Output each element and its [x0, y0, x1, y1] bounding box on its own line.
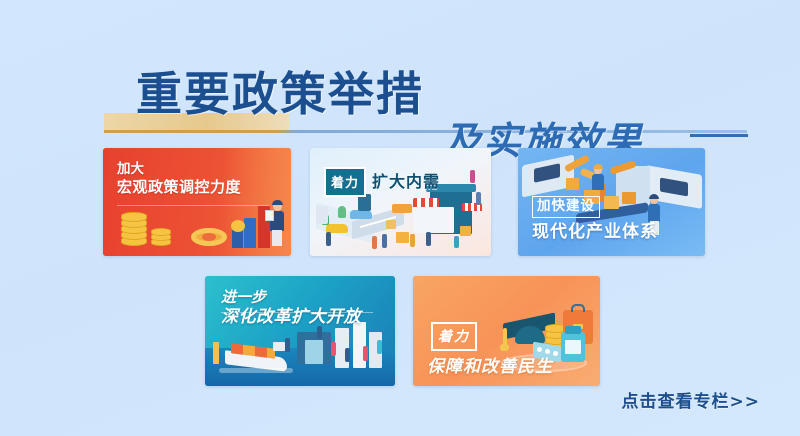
crate-icon-4 — [566, 178, 579, 190]
coin-on-chart-icon — [231, 220, 245, 232]
pedestrian-7 — [476, 192, 481, 205]
car-blue-icon — [350, 210, 372, 219]
policy-card-macro-control[interactable]: 加大 宏观政策调控力度 — [103, 148, 291, 256]
pedestrian-4 — [363, 346, 368, 361]
policy-card-reform-opening[interactable]: 进一步 深化改革扩大开放 — [205, 276, 395, 386]
person-legs — [272, 230, 282, 246]
coin-stack-small-icon — [151, 228, 171, 248]
torus-ring-hole — [202, 233, 216, 241]
pedestrian-5 — [377, 340, 382, 354]
medicine-bottle-cap — [565, 326, 581, 334]
pedestrian-3 — [345, 348, 350, 362]
card-label: 加快建设 现代化产业体系 — [532, 196, 658, 244]
person-hair — [272, 200, 283, 205]
policy-card-modern-industry[interactable]: 加快建设 现代化产业体系 — [518, 148, 705, 256]
pill-dot-3 — [553, 351, 558, 356]
title-divider-rule — [104, 130, 747, 133]
chart-bars-decoration — [213, 342, 219, 364]
parcel-icon-3 — [460, 226, 471, 236]
title-tail-line — [690, 134, 748, 137]
pedestrian-1 — [326, 232, 331, 246]
card-label: 扩大内需 — [372, 168, 440, 192]
view-column-link[interactable]: 点击查看专栏>> — [622, 387, 761, 412]
ship-wake — [219, 368, 293, 373]
kiosk-icon — [316, 206, 328, 224]
card-label-line1: 进一步 — [221, 288, 361, 307]
coin-stack-large-icon — [121, 216, 147, 246]
page-title: 重要政策举措 — [136, 68, 424, 121]
chart-bar-medium — [244, 218, 256, 248]
port-gate-inner — [305, 340, 323, 364]
pedestrian-3 — [382, 234, 387, 248]
pedestrian-6 — [470, 170, 475, 183]
ship-bridge — [273, 342, 285, 351]
card-badge: 着力 — [324, 167, 366, 197]
pedestrian-2 — [372, 236, 377, 249]
worker-1-body — [592, 174, 604, 190]
person-clipboard-icon — [265, 210, 274, 221]
tree-icon-1 — [338, 206, 346, 218]
pedestrian-1 — [285, 338, 290, 352]
worker-1-helmet — [593, 164, 603, 169]
graduation-cap-tassel-knot — [500, 344, 509, 351]
pedestrian-4 — [410, 234, 415, 247]
card-label: 进一步 深化改革扩大开放 — [221, 288, 361, 329]
policy-card-livelihood[interactable]: 着力 保障和改善民生 — [413, 276, 600, 386]
store-awning — [413, 198, 439, 207]
parcel-icon-1 — [396, 232, 409, 243]
pedestrian-5 — [426, 232, 431, 246]
pedestrian-8 — [454, 236, 459, 248]
medicine-bottle-label — [565, 340, 581, 354]
card-label-line1: 加大 — [117, 161, 241, 178]
card-label: 保障和改善民生 — [427, 352, 553, 377]
card-badge: 着力 — [431, 322, 477, 351]
truck-icon — [392, 204, 412, 213]
card-text-underline — [117, 205, 269, 206]
pedestrian-2 — [331, 342, 336, 356]
card-label-line1: 加快建设 — [532, 196, 600, 218]
chart-bar-small — [232, 230, 243, 248]
policy-card-expand-demand[interactable]: 着力 扩大内需 — [310, 148, 491, 256]
briefcase-handle — [571, 304, 585, 312]
card-label-line2: 宏观政策调控力度 — [117, 178, 241, 197]
card-label-line2: 深化改革扩大开放 — [221, 307, 361, 329]
parcel-icon-2 — [386, 220, 396, 229]
banner-title-block: 重要政策举措 及实施效果 — [0, 34, 800, 126]
store-front-panel — [414, 207, 454, 233]
card-label-line2: 现代化产业体系 — [532, 222, 658, 244]
card-label: 加大 宏观政策调控力度 — [117, 161, 241, 197]
